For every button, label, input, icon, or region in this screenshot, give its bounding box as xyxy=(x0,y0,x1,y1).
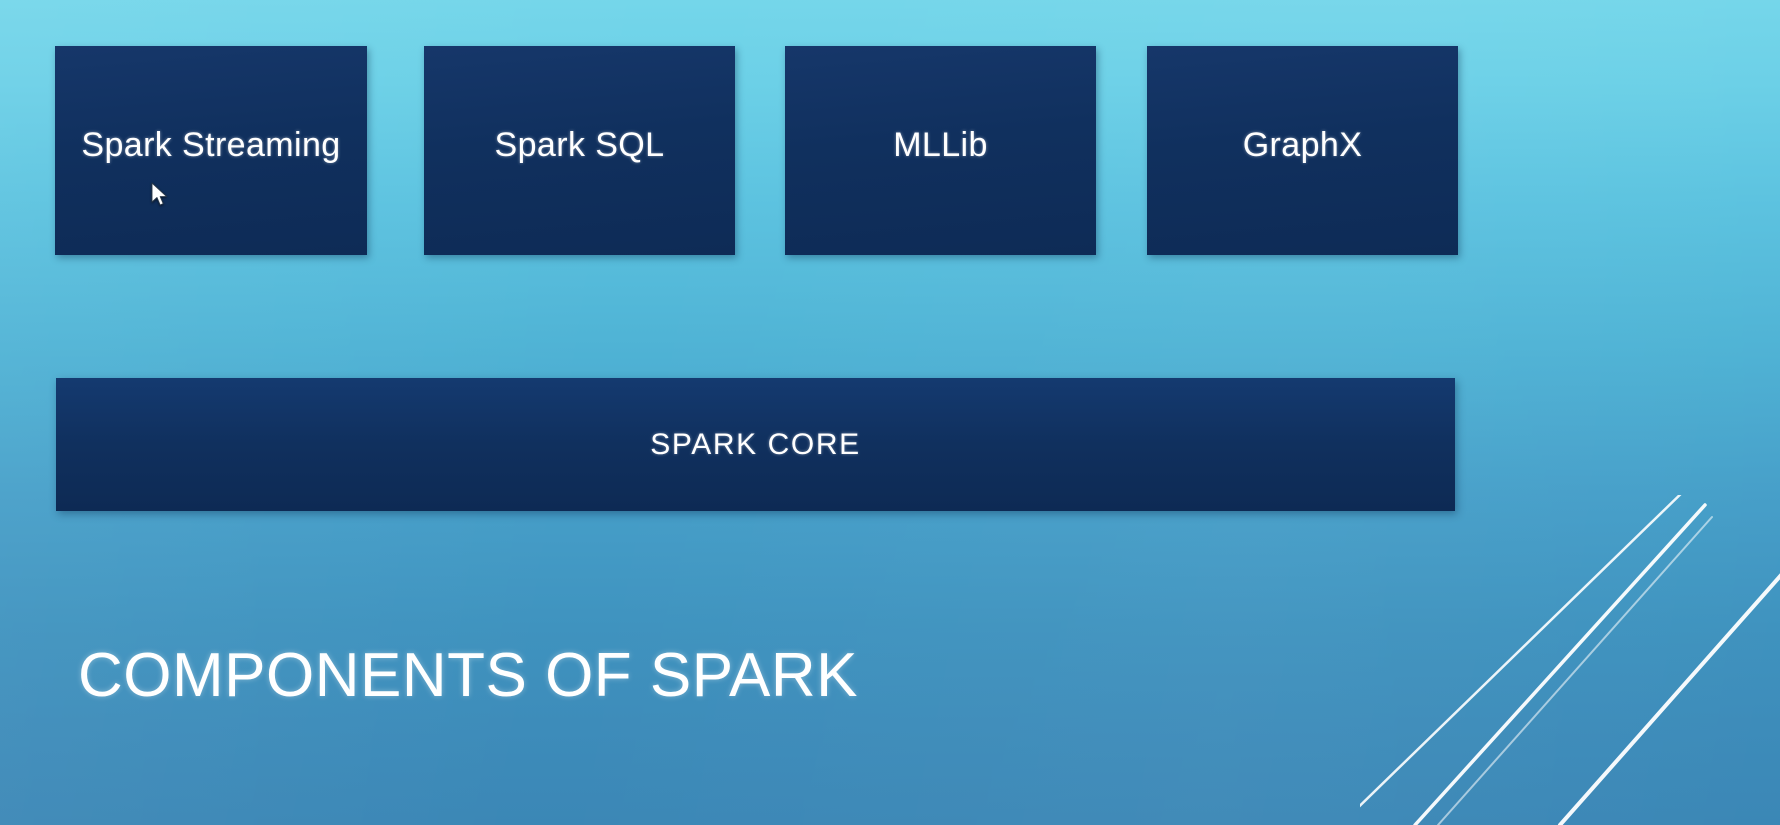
spark-core-bar[interactable]: SPARK CORE xyxy=(56,378,1455,511)
diagonal-streak-decoration xyxy=(1360,495,1780,825)
component-label: GraphX xyxy=(1243,126,1363,165)
component-label: Spark Streaming xyxy=(81,126,340,165)
slide-title: COMPONENTS OF SPARK xyxy=(78,640,858,711)
component-label: MLLib xyxy=(893,126,988,165)
spark-core-label: SPARK CORE xyxy=(650,428,861,462)
component-box-graphx[interactable]: GraphX xyxy=(1147,46,1458,255)
slide-canvas: Spark Streaming Spark SQL MLLib GraphX S… xyxy=(0,0,1780,825)
component-label: Spark SQL xyxy=(495,126,665,165)
component-box-mllib[interactable]: MLLib xyxy=(785,46,1096,255)
component-box-spark-streaming[interactable]: Spark Streaming xyxy=(55,46,367,255)
component-box-spark-sql[interactable]: Spark SQL xyxy=(424,46,735,255)
